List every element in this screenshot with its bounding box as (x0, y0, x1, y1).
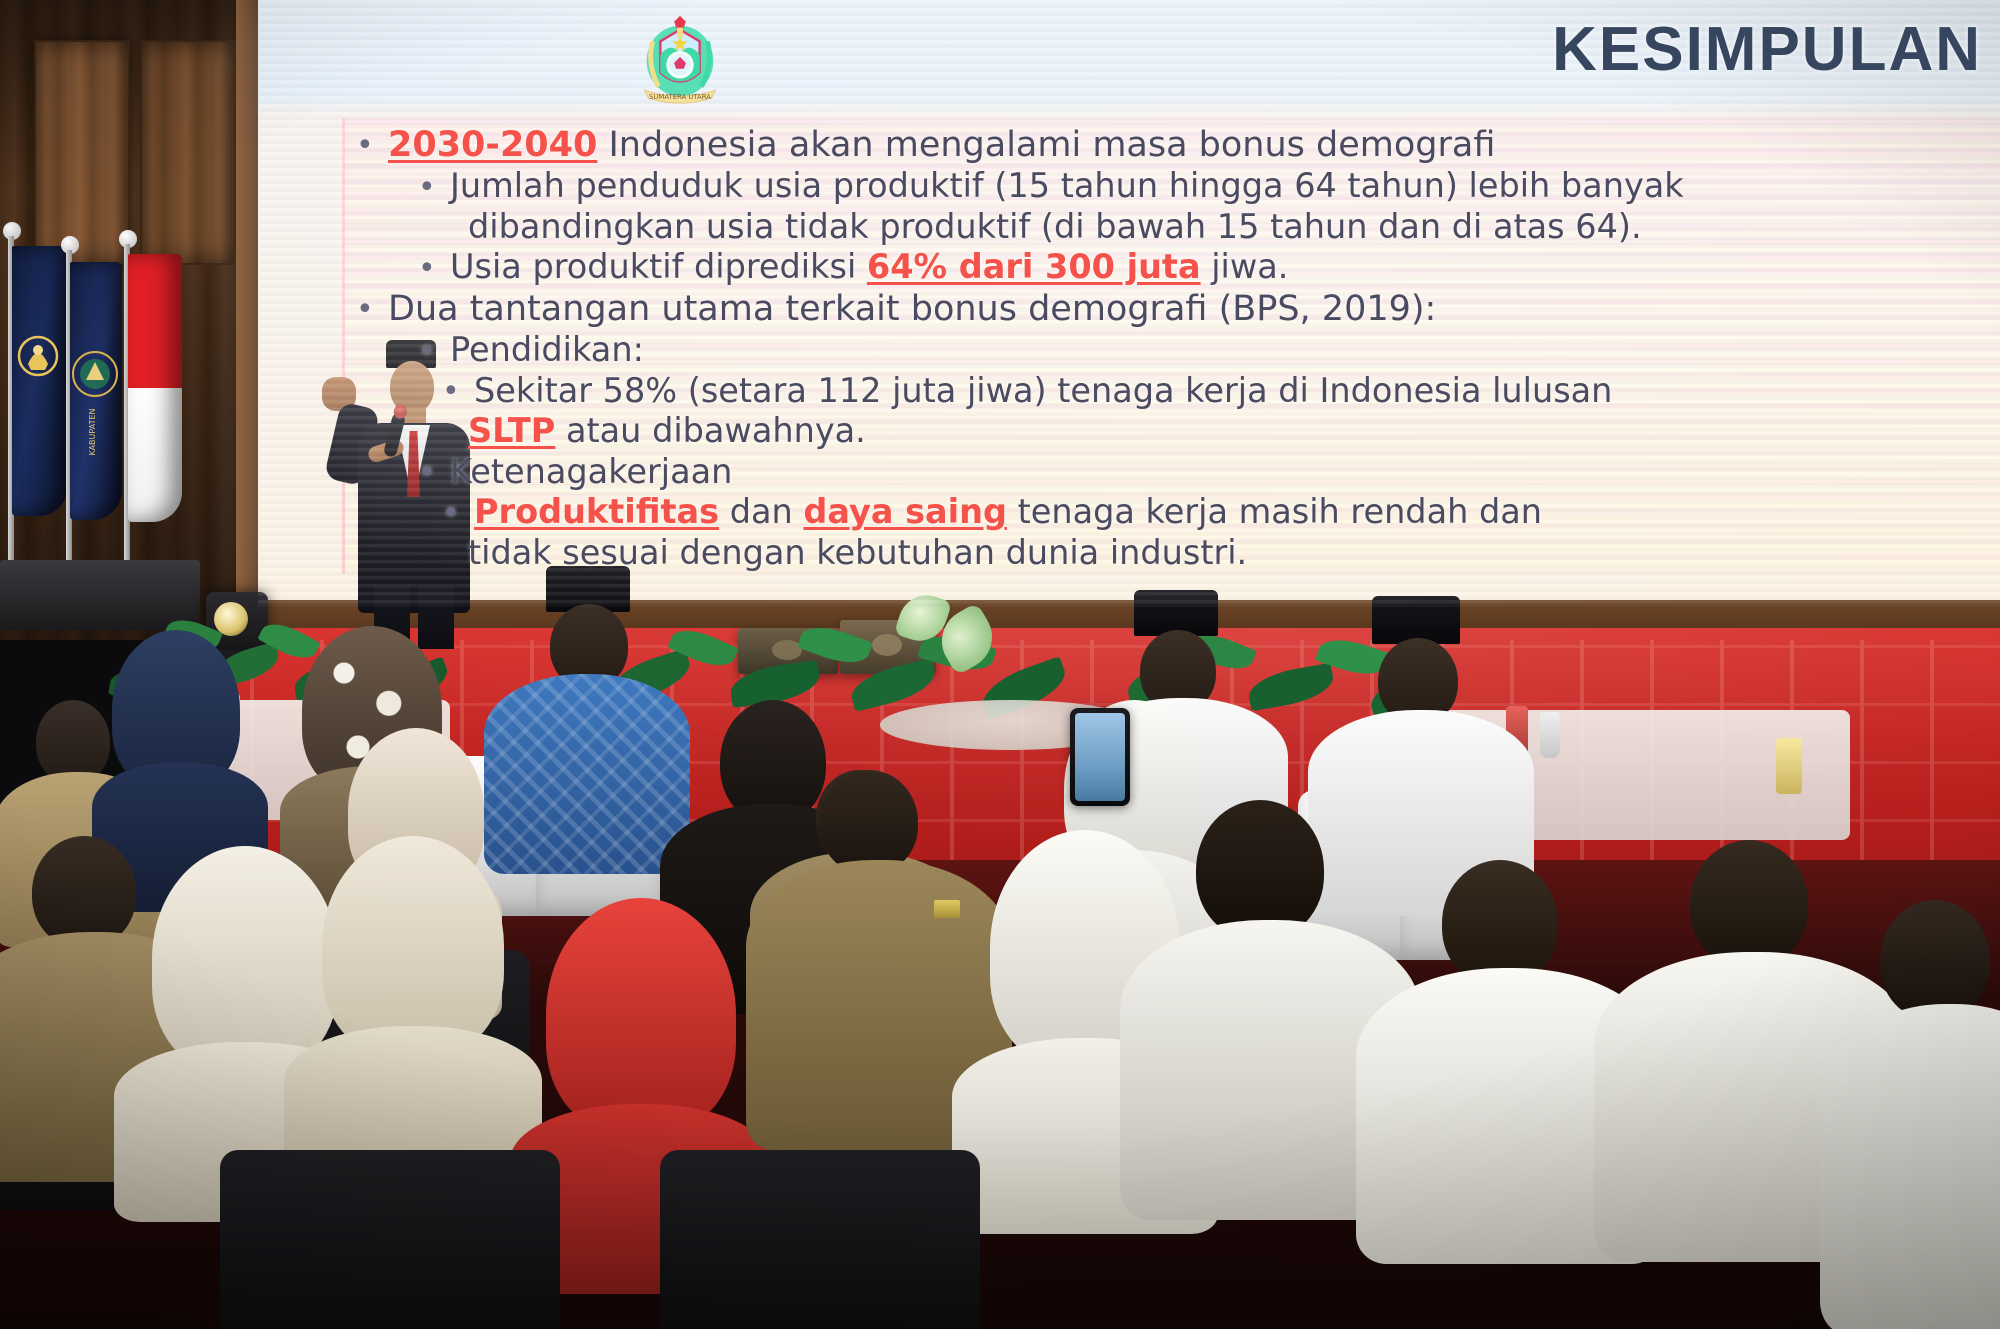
foreground-man-dark-hair (1140, 800, 1390, 1220)
foreground-hijab-beige (292, 836, 532, 1196)
slide-title: KESIMPULAN (1552, 14, 1982, 85)
slide-line-1: 2030-2040 Indonesia akan mengalami masa … (356, 124, 2000, 166)
foreground-edge-right (1840, 900, 2000, 1329)
svg-text:SUMATERA UTARA: SUMATERA UTARA (649, 93, 711, 101)
slide-line-3: dibandingkan usia tidak produktif (di ba… (356, 207, 2000, 248)
audience-batik-blue (488, 566, 684, 866)
slide-line-5: Dua tantangan utama terkait bonus demogr… (356, 288, 2000, 330)
drink-glass (1776, 738, 1802, 794)
wood-panel-left (34, 40, 130, 265)
slide-line-4: Usia produktif diprediksi 64% dari 300 j… (356, 247, 2000, 288)
sumatera-utara-emblem-icon: SUMATERA UTARA (630, 8, 730, 106)
chair-dark-bottom-center (660, 1150, 980, 1329)
conference-hall-scene: SUMATERA UTARA KESIMPULAN 2030-2040 Indo… (0, 0, 2000, 1329)
slide-line-6: Pendidikan: (356, 330, 2000, 371)
drink-bottle-b (1540, 712, 1560, 758)
slide-line-7: Sekitar 58% (setara 112 juta jiwa) tenag… (356, 371, 2000, 412)
chair-dark-bottom-left (220, 1150, 560, 1329)
projection-screen: SUMATERA UTARA KESIMPULAN 2030-2040 Indo… (258, 0, 2000, 607)
slide-line-2: Jumlah penduduk usia produktif (15 tahun… (356, 166, 2000, 207)
svg-text:KABUPATEN: KABUPATEN (88, 408, 97, 455)
slide-line-11: tidak sesuai dengan kebutuhan dunia indu… (356, 533, 2000, 574)
slide-line-8: SLTP atau dibawahnya. (356, 411, 2000, 452)
slide-body-text: 2030-2040 Indonesia akan mengalami masa … (356, 124, 2000, 573)
phone-recording-screen[interactable] (1070, 708, 1130, 806)
foreground-man-white-right (1380, 860, 1630, 1260)
wood-panel-right (140, 40, 236, 265)
slide-line-10: Produktifitas dan daya saing tenaga kerj… (356, 492, 2000, 533)
slide-line-9: Ketenagakerjaan (356, 452, 2000, 493)
